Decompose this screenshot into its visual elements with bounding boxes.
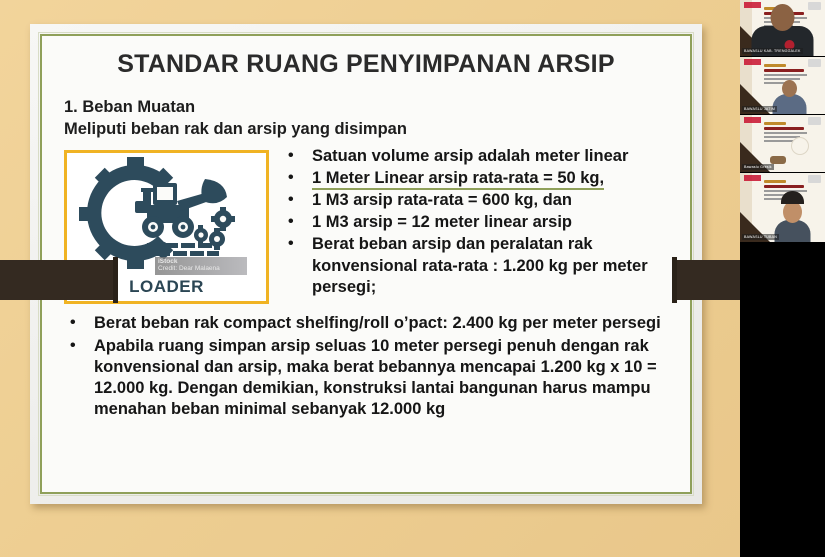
- participant-name-label: Bawaslu Gresik: [742, 164, 774, 170]
- presentation-slide: STANDAR RUANG PENYIMPANAN ARSIP 1. Beban…: [30, 24, 702, 504]
- list-item: • 1 M3 arsip rata-rata = 600 kg, dan: [282, 190, 694, 211]
- video-tile[interactable]: Bawaslu Gresik: [740, 115, 825, 172]
- bullet-list-right: • Satuan volume arsip adalah meter linea…: [282, 146, 694, 299]
- video-tile[interactable]: BAWASLU JATIM: [740, 57, 825, 114]
- list-item-text: 1 Meter Linear arsip rata-rata = 50 kg,: [312, 169, 604, 190]
- list-item: • Satuan volume arsip adalah meter linea…: [282, 146, 694, 167]
- shared-screen-region[interactable]: STANDAR RUANG PENYIMPANAN ARSIP 1. Beban…: [0, 0, 740, 557]
- watermark-credit: Credit: Dear Malaena: [158, 265, 220, 272]
- list-item: • Apabila ruang simpan arsip seluas 10 m…: [64, 336, 694, 420]
- list-item-text: Satuan volume arsip adalah meter linear: [312, 147, 628, 165]
- bullet-marker: •: [70, 313, 76, 333]
- desk-object: [770, 156, 786, 164]
- decorative-circle: [791, 137, 809, 155]
- participant-video-rail: BAWASLU KAB. TRENGGALEK BAWASLU JATIM: [740, 0, 825, 557]
- istock-watermark: iStock Credit: Dear Malaena: [155, 257, 247, 275]
- empty-rail-area: [740, 243, 825, 557]
- list-item-text: 1 M3 arsip = 12 meter linear arsip: [312, 213, 572, 231]
- wheel-loader-gear-icon: [77, 157, 257, 273]
- org-logo-icon: [744, 175, 761, 181]
- participant-name-label: BAWASLU JATIM: [742, 106, 777, 112]
- list-item-text: Apabila ruang simpan arsip seluas 10 met…: [94, 337, 657, 418]
- list-item-text: Berat beban rak compact shelfing/roll o’…: [94, 314, 661, 332]
- bullet-marker: •: [70, 336, 76, 356]
- screen-artifact-band-right: [672, 260, 740, 300]
- list-item-text: Berat beban arsip dan peralatan rak konv…: [312, 235, 648, 295]
- screen-artifact-band-left: [0, 260, 118, 300]
- bullet-marker: •: [288, 146, 294, 166]
- video-tile[interactable]: BAWASLU KAB. TRENGGALEK: [740, 0, 825, 56]
- slide-heading-1: 1. Beban Muatan: [64, 98, 195, 117]
- list-item: • Berat beban arsip dan peralatan rak ko…: [282, 234, 694, 297]
- list-item: • 1 M3 arsip = 12 meter linear arsip: [282, 212, 694, 233]
- bullet-marker: •: [288, 212, 294, 232]
- slide-heading-2: Meliputi beban rak dan arsip yang disimp…: [64, 120, 407, 139]
- bullet-marker: •: [288, 168, 294, 188]
- participant-name-label: BAWASLU KAB. TRENGGALEK: [742, 48, 803, 54]
- bullet-marker: •: [288, 234, 294, 254]
- bullet-marker: •: [288, 190, 294, 210]
- participant-name-label: BAWASLU TUBAN: [742, 234, 779, 240]
- list-item: • Berat beban rak compact shelfing/roll …: [64, 313, 694, 334]
- slide-inner-frame: STANDAR RUANG PENYIMPANAN ARSIP 1. Beban…: [40, 34, 692, 494]
- slide-title: STANDAR RUANG PENYIMPANAN ARSIP: [42, 50, 690, 79]
- list-item-text: 1 M3 arsip rata-rata = 600 kg, dan: [312, 191, 572, 209]
- watermark-brand: iStock: [158, 258, 178, 265]
- org-logo-icon: [744, 59, 761, 65]
- meeting-screen-share-view: STANDAR RUANG PENYIMPANAN ARSIP 1. Beban…: [0, 0, 825, 557]
- video-tile[interactable]: BAWASLU TUBAN: [740, 173, 825, 242]
- list-item: • 1 Meter Linear arsip rata-rata = 50 kg…: [282, 168, 694, 189]
- org-logo-icon: [744, 117, 761, 123]
- bullet-list-bottom: • Berat beban rak compact shelfing/roll …: [64, 313, 694, 423]
- org-logo-icon: [744, 2, 761, 8]
